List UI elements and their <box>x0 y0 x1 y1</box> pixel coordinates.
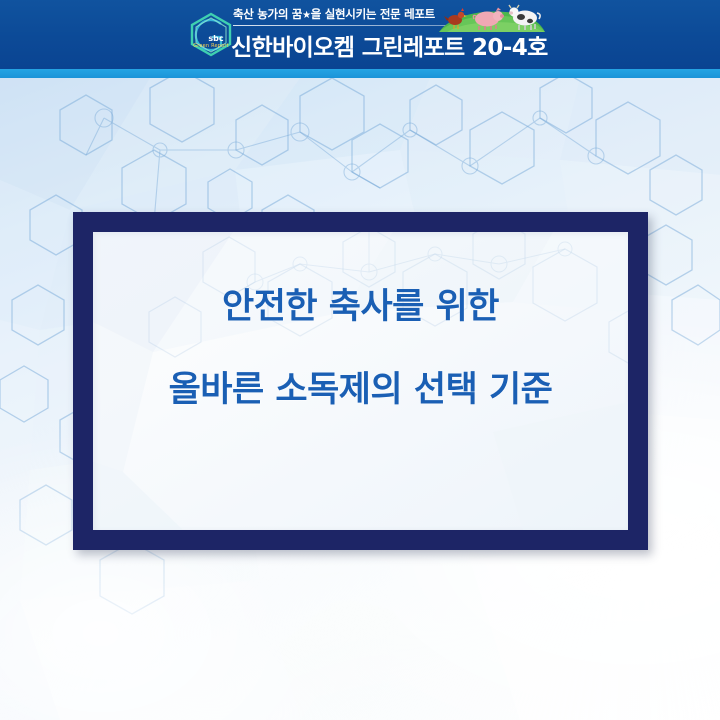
header-accent-strip <box>0 69 720 78</box>
tagline-part-1: 축산 농가의 꿈 <box>233 7 302 21</box>
slide-canvas: sbc Green Report 축산 농가의 꿈★을 실현시키는 전문 레포트… <box>0 0 720 720</box>
header-content: sbc Green Report 축산 농가의 꿈★을 실현시키는 전문 레포트… <box>185 0 585 69</box>
header-band: sbc Green Report 축산 농가의 꿈★을 실현시키는 전문 레포트… <box>0 0 720 69</box>
header-tagline: 축산 농가의 꿈★을 실현시키는 전문 레포트 <box>233 6 435 22</box>
hexagon-g-logo-icon: sbc <box>185 10 237 62</box>
svg-text:sbc: sbc <box>208 34 223 43</box>
card-heading-group: 안전한 축사를 위한 올바른 소독제의 선택 기준 <box>93 290 628 408</box>
content-frame: 안전한 축사를 위한 올바른 소독제의 선택 기준 <box>73 212 648 550</box>
card-heading-line-1: 안전한 축사를 위한 <box>93 290 628 325</box>
farm-animals-illustration-icon <box>433 2 545 36</box>
star-icon: ★ <box>302 10 311 21</box>
logo-caption: Green Report <box>185 43 237 49</box>
content-panel: 안전한 축사를 위한 올바른 소독제의 선택 기준 <box>93 232 628 530</box>
card-heading-line-2: 올바른 소독제의 선택 기준 <box>93 373 628 408</box>
tagline-part-2: 을 실현시키는 전문 레포트 <box>311 7 435 21</box>
